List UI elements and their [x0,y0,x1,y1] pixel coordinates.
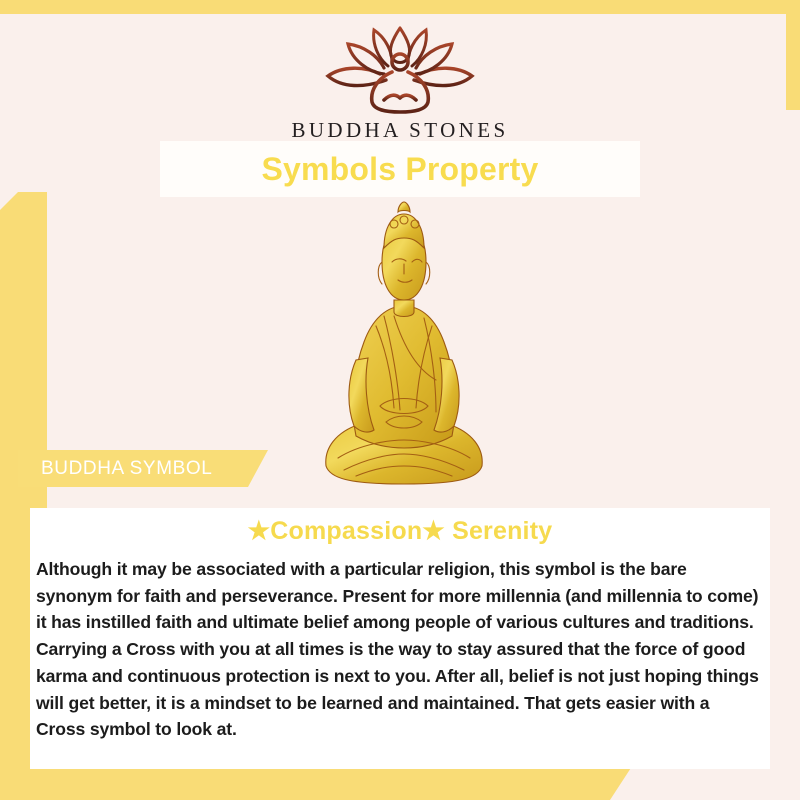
lotus-meditation-figure-icon [312,22,488,114]
buddha-statue-image [320,200,488,492]
frame-top-bar [0,0,800,14]
brand-logo: BUDDHA STONES [0,22,800,143]
buddha-symbol-tag-label: BUDDHA SYMBOL [18,458,212,480]
section-body-text: Although it may be associated with a par… [30,556,770,743]
buddha-symbol-tag: BUDDHA SYMBOL [18,450,268,487]
keyword-serenity: Serenity [452,517,552,545]
buddha-statue-illustration [320,200,488,492]
section-heading: ★Compassion★ Serenity [30,516,770,546]
keyword-compassion: Compassion [270,517,422,545]
title-banner: Symbols Property [160,141,640,197]
content-card: ★Compassion★ Serenity Although it may be… [30,508,770,769]
star-icon-left: ★ [248,517,271,545]
page-title: Symbols Property [261,151,538,188]
star-icon-right: ★ [422,517,445,545]
brand-wordmark: BUDDHA STONES [0,118,800,143]
poster-root: BUDDHA STONES Symbols Property [0,0,800,800]
